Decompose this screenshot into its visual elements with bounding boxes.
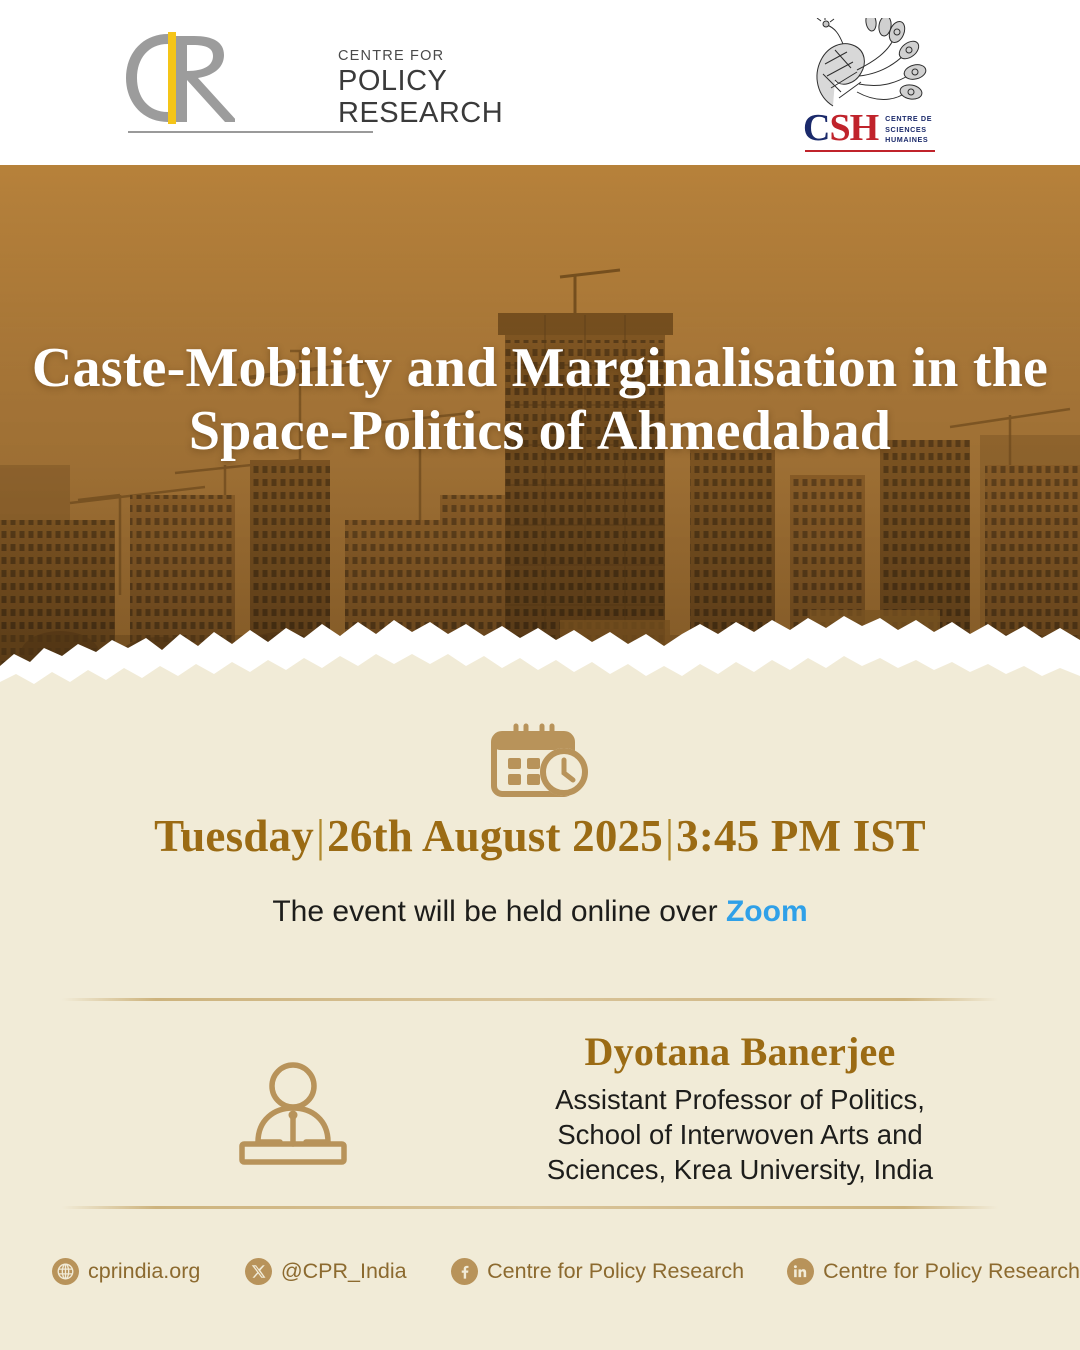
- event-mode-text: The event will be held online over: [272, 895, 726, 928]
- divider-top: [62, 998, 998, 1001]
- datetime-separator-1: |: [314, 811, 327, 861]
- csh-letter-s: S: [829, 107, 849, 149]
- csh-peacock-icon: [795, 18, 955, 110]
- zoom-link[interactable]: Zoom: [726, 895, 808, 928]
- footer-twitter-label: @CPR_India: [281, 1259, 407, 1284]
- csh-tagline-line-2: SCIENCES: [885, 125, 932, 135]
- footer-facebook-label: Centre for Policy Research: [487, 1259, 744, 1284]
- torn-paper-edge: [0, 604, 1080, 710]
- cpr-line-1: CENTRE FOR: [338, 48, 503, 64]
- footer-link-twitter[interactable]: @CPR_India: [245, 1258, 407, 1285]
- calendar-clock-icon: [488, 722, 592, 798]
- csh-tagline-line-3: HUMAINES: [885, 135, 932, 145]
- cpr-line-2: POLICY: [338, 67, 503, 96]
- csh-tagline-line-1: CENTRE DE: [885, 114, 932, 124]
- speaker-podium-icon: [232, 1058, 354, 1170]
- speaker-affiliation-line-2: School of Interwoven Arts and: [450, 1117, 1030, 1152]
- csh-tagline: CENTRE DE SCIENCES HUMAINES: [885, 110, 932, 145]
- poster-body: Tuesday|26th August 2025|3:45 PM IST The…: [0, 710, 1080, 1350]
- x-twitter-icon: [245, 1258, 272, 1285]
- event-title: Caste-Mobility and Marginalisation in th…: [0, 337, 1080, 462]
- poster-footer: cprindia.org @CPR_India Centre for: [0, 1258, 1080, 1318]
- footer-link-facebook[interactable]: Centre for Policy Research: [451, 1258, 744, 1285]
- footer-website-label: cprindia.org: [88, 1259, 200, 1284]
- speaker-section: Dyotana Banerjee Assistant Professor of …: [0, 1030, 1080, 1200]
- facebook-icon: [451, 1258, 478, 1285]
- footer-linkedin-label: Centre for Policy Research: [823, 1259, 1080, 1284]
- csh-underline: [805, 150, 935, 152]
- event-date: 26th August 2025: [327, 811, 663, 861]
- footer-link-linkedin[interactable]: Centre for Policy Research: [787, 1258, 1080, 1285]
- event-day: Tuesday: [154, 811, 314, 861]
- cpr-wordmark: CENTRE FOR POLICY RESEARCH: [338, 48, 503, 128]
- linkedin-icon: [787, 1258, 814, 1285]
- csh-wordmark: CSH CENTRE DE SCIENCES HUMAINES: [803, 110, 932, 146]
- datetime-separator-2: |: [663, 811, 676, 861]
- speaker-affiliation-line-1: Assistant Professor of Politics,: [450, 1082, 1030, 1117]
- cpr-line-3: RESEARCH: [338, 99, 503, 128]
- event-time: 3:45 PM IST: [676, 811, 926, 861]
- cpr-logo: CENTRE FOR POLICY RESEARCH: [120, 26, 370, 141]
- event-datetime: Tuesday|26th August 2025|3:45 PM IST: [0, 810, 1080, 862]
- event-mode: The event will be held online over Zoom: [0, 895, 1080, 929]
- speaker-affiliation: Assistant Professor of Politics, School …: [450, 1082, 1030, 1188]
- poster-header: CENTRE FOR POLICY RESEARCH: [0, 0, 1080, 165]
- cpr-monogram-icon: [120, 28, 235, 126]
- csh-logo: CSH CENTRE DE SCIENCES HUMAINES: [795, 18, 975, 148]
- csh-letter-c: C: [803, 107, 829, 149]
- speaker-details: Dyotana Banerjee Assistant Professor of …: [450, 1030, 1030, 1188]
- csh-letter-h: H: [850, 107, 879, 149]
- speaker-name: Dyotana Banerjee: [450, 1030, 1030, 1074]
- cpr-underline: [128, 131, 373, 133]
- speaker-affiliation-line-3: Sciences, Krea University, India: [450, 1152, 1030, 1187]
- hero-banner: Caste-Mobility and Marginalisation in th…: [0, 165, 1080, 710]
- footer-link-website[interactable]: cprindia.org: [52, 1258, 200, 1285]
- divider-bottom: [62, 1206, 998, 1209]
- globe-icon: [52, 1258, 79, 1285]
